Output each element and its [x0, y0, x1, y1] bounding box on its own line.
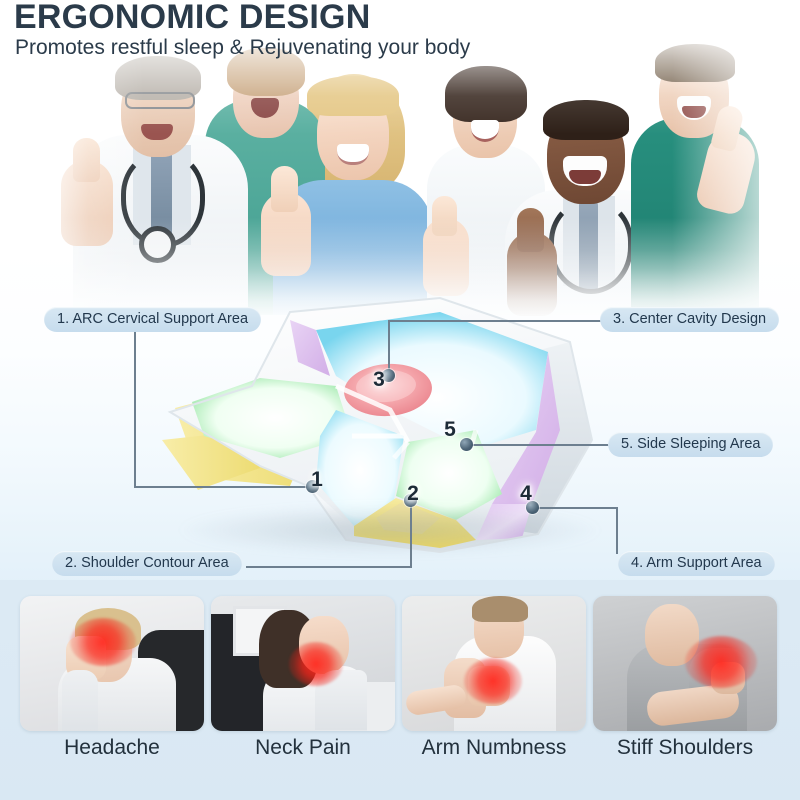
symptom-captions: Headache Neck Pain Arm Numbness Stiff Sh… [20, 736, 780, 760]
doctors-group-image [55, 40, 755, 315]
symptom-card-headache[interactable] [20, 596, 204, 731]
page-title: ERGONOMIC DESIGN [14, 0, 370, 37]
hair-front-nurse-blonde [307, 76, 399, 116]
callout-label-5[interactable]: 5. Side Sleeping Area [608, 432, 773, 457]
callout-label-3[interactable]: 3. Center Cavity Design [600, 307, 779, 332]
callout-label-4[interactable]: 4. Arm Support Area [618, 551, 775, 576]
infographic-page: ERGONOMIC DESIGN Promotes restful sleep … [0, 0, 800, 800]
marker-number-3: 3 [366, 367, 392, 393]
marker-number-2: 2 [400, 481, 426, 507]
stethoscope-doctor-male [549, 200, 633, 294]
symptom-caption-stiff-shoulders: Stiff Shoulders [593, 736, 777, 760]
pain-highlight-arm-numbness [464, 658, 522, 704]
hair-nurse-teal [655, 44, 735, 82]
thumb-finger-doctor-female [432, 196, 457, 236]
hair-doctor-female [445, 66, 527, 122]
symptom-card-neck-pain[interactable] [211, 596, 395, 731]
callout-label-1[interactable]: 1. ARC Cervical Support Area [44, 307, 261, 332]
pillow-shadow [175, 505, 605, 555]
pain-highlight-stiff-shoulders [685, 636, 757, 688]
pain-highlight-headache [70, 618, 136, 666]
mouth-inner-doctor-male [569, 170, 601, 184]
symptom-caption-headache: Headache [20, 736, 204, 760]
arm-headache [62, 670, 98, 731]
stethoscope-bell [139, 226, 176, 263]
symptom-caption-arm-numbness: Arm Numbness [402, 736, 586, 760]
thumb-finger-doctor-male [517, 208, 544, 252]
thumb-finger-nurse-blonde [271, 166, 298, 212]
marker-number-4: 4 [513, 481, 539, 507]
symptom-card-stiff-shoulders[interactable] [593, 596, 777, 731]
thumb-finger-doctor-senior [73, 138, 100, 182]
marker-number-1: 1 [304, 467, 330, 493]
hair-arm-numbness [472, 596, 528, 622]
product-pillow [140, 290, 660, 570]
glasses-doctor-senior [125, 92, 195, 109]
symptom-card-arm-numbness[interactable] [402, 596, 586, 731]
symptoms-panel: Headache Neck Pain Arm Numbness Stiff Sh… [0, 580, 800, 800]
symptom-cards [20, 596, 780, 731]
symptom-caption-neck-pain: Neck Pain [211, 736, 395, 760]
marker-number-5: 5 [437, 417, 463, 443]
page-subtitle: Promotes restful sleep & Rejuvenating yo… [15, 36, 470, 60]
callout-label-2[interactable]: 2. Shoulder Contour Area [52, 551, 242, 576]
hair-doctor-male [543, 100, 629, 140]
pain-highlight-neck-pain [289, 642, 343, 686]
